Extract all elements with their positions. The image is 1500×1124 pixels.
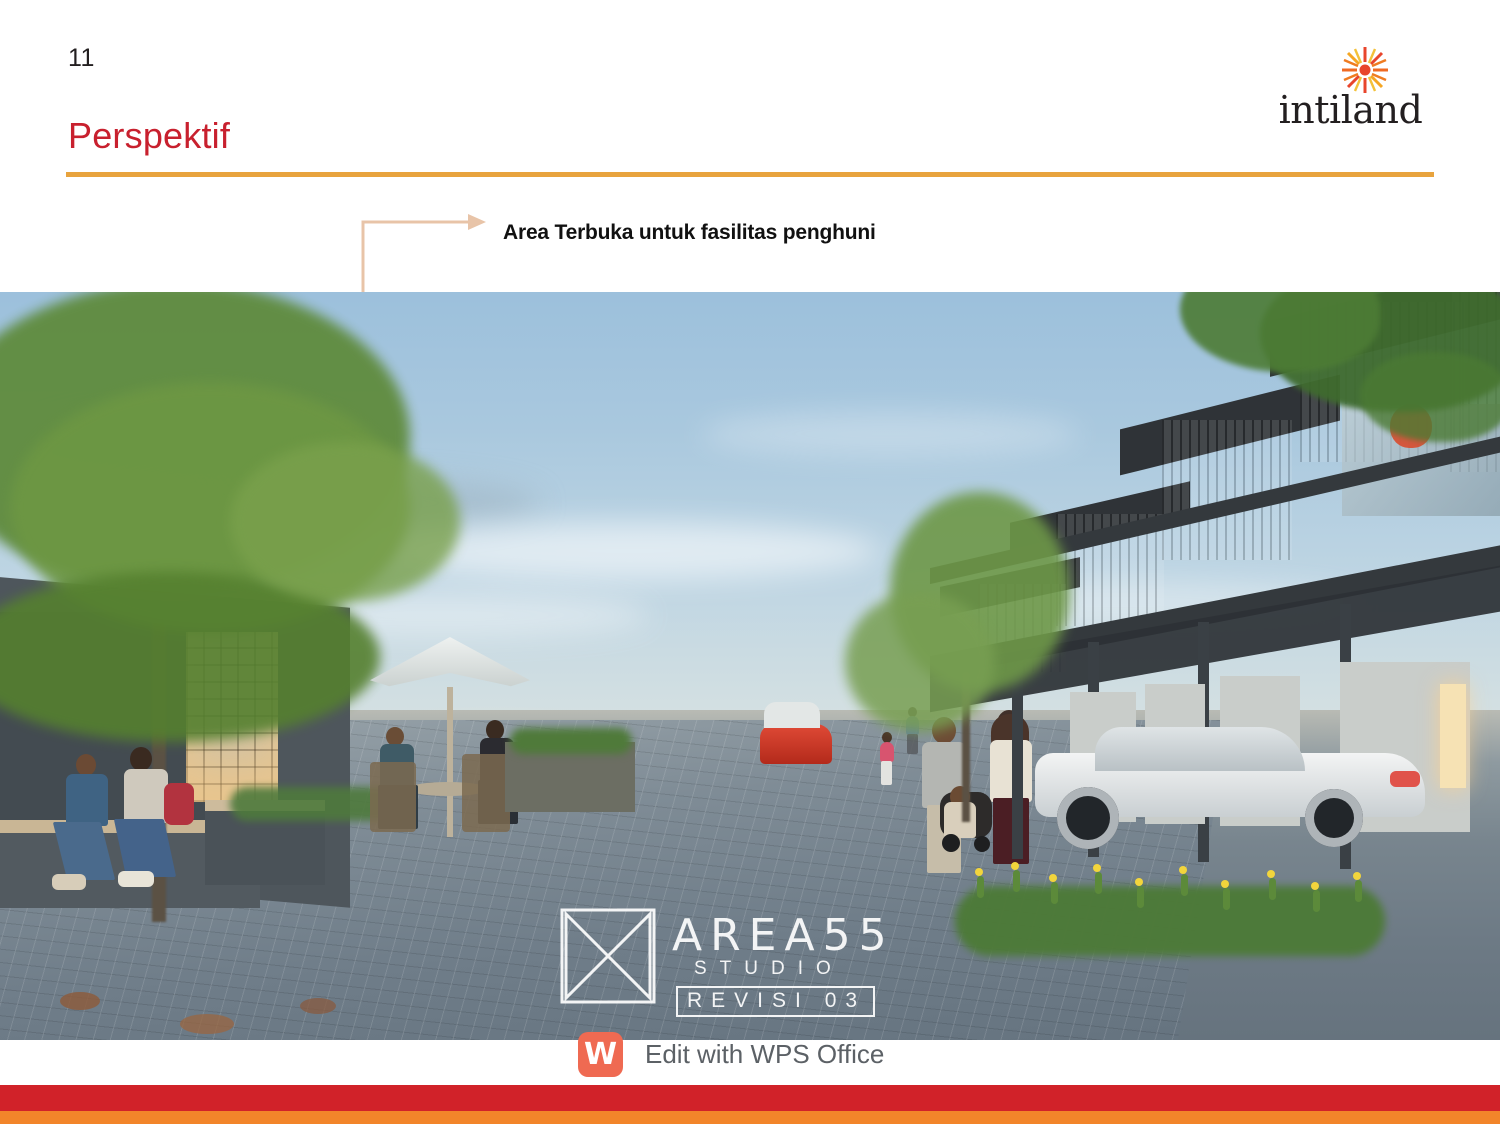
tree-canopy [845, 592, 995, 732]
intiland-logo: intiland [1263, 46, 1438, 142]
white-car [1035, 727, 1425, 839]
page-title: Perspektif [68, 118, 230, 154]
watermark-studio-name: AREA55 [672, 910, 895, 961]
umbrella-pole [447, 687, 453, 837]
red-car [760, 724, 832, 764]
footer-bar-red [0, 1085, 1500, 1111]
area55-geometric-logo-icon [560, 908, 656, 1004]
starburst-sun-icon [1341, 46, 1389, 94]
fallen-leaves [180, 1014, 234, 1034]
page-number: 11 [68, 44, 95, 73]
slide-canvas: 11 Perspektif [0, 0, 1500, 1124]
cafe-chair [462, 754, 510, 832]
entry-light [1440, 684, 1466, 788]
wps-office-overlay[interactable]: W Edit with WPS Office [578, 1030, 923, 1078]
cafe-chair [370, 762, 416, 832]
intiland-wordmark: intiland [1263, 88, 1438, 132]
flower-planter [955, 852, 1385, 972]
wps-office-label[interactable]: Edit with WPS Office [645, 1039, 884, 1070]
wps-icon-letter: W [578, 1032, 623, 1077]
footer-bar-orange [0, 1111, 1500, 1124]
watermark-studio-sub: STUDIO [694, 958, 844, 980]
fallen-leaves [60, 992, 100, 1010]
watermark-revision: REVISI 03 [676, 986, 875, 1017]
callout-label: Area Terbuka untuk fasilitas penghuni [503, 221, 876, 245]
studio-watermark: AREA55 STUDIO REVISI 03 [560, 908, 910, 1018]
perspective-render-image: AREA55 STUDIO REVISI 03 [0, 292, 1500, 1040]
title-underline-rule [66, 172, 1434, 177]
fallen-leaves [300, 998, 336, 1014]
planter-hedge [510, 728, 632, 754]
wps-office-icon[interactable]: W [578, 1032, 623, 1077]
tree-canopy [230, 442, 460, 602]
red-car-roof [764, 702, 820, 728]
